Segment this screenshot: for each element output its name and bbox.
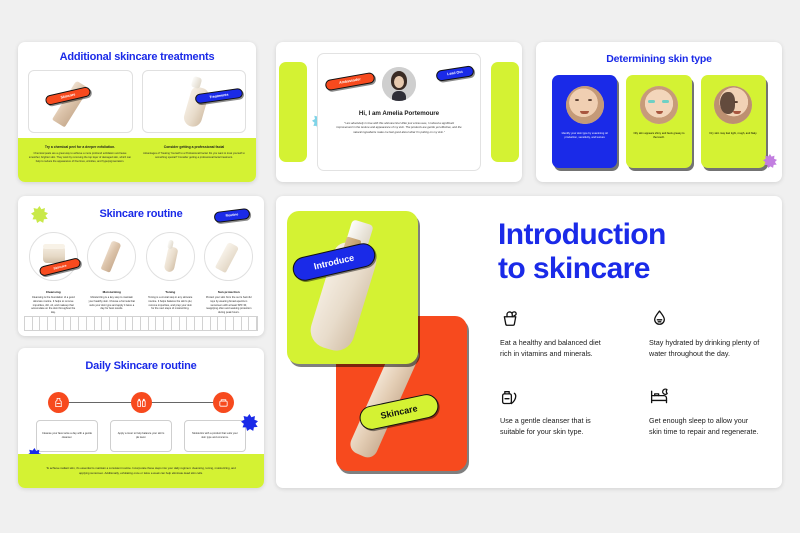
treatment-body: Chemical peels are a great way to achiev…: [28, 152, 132, 163]
intro-tips-grid: Eat a healthy and balanced diet rich in …: [500, 308, 762, 438]
slide-skincare-routine[interactable]: Skincare routine Routine Skincare Cleans…: [18, 196, 264, 336]
skin-type-card[interactable]: Identify your skin type by examining oil…: [552, 75, 617, 168]
step-label: Cleansing: [27, 290, 80, 294]
step-label: Sun protection: [203, 290, 256, 294]
title-line-1: Introduction: [498, 218, 666, 252]
treatment-text-band: Try a chemical peel for a deeper exfolia…: [18, 138, 256, 182]
daily-step-text: Cleanse your face twice a day with a gen…: [42, 432, 92, 440]
moisturizer-jar-icon: [213, 392, 234, 413]
badge-lead-out[interactable]: Lead Out: [435, 65, 474, 82]
treatment-image-right: Treatments: [142, 70, 247, 133]
ambassador-card: Ambassador Lead Out Hi, I am Amelia Port…: [317, 53, 481, 171]
step-label: Moisturizing: [86, 290, 139, 294]
skin-type-card[interactable]: Oily skin appears shiny and feels greasy…: [626, 75, 691, 168]
routine-step: Moisturizing Moisturizing is a key step …: [86, 232, 139, 315]
step-body: Toning is a crucial step in any skincare…: [144, 296, 197, 311]
daily-step-card: Cleanse your face twice a day with a gen…: [36, 420, 98, 452]
treatment-heading: Try a chemical peel for a deeper exfolia…: [28, 145, 132, 149]
step-image: [87, 232, 136, 281]
intro-tip-text: Eat a healthy and balanced diet rich in …: [500, 337, 613, 359]
daily-step-cards: Cleanse your face twice a day with a gen…: [36, 420, 246, 452]
face-photo: [566, 86, 604, 124]
title-line-2: to skincare: [498, 252, 666, 286]
ambassador-name: Hi, I am Amelia Portemoure: [318, 110, 480, 117]
intro-tip: Get enough sleep to allow your skin time…: [649, 386, 762, 437]
slide-title: Determining skin type: [536, 42, 782, 65]
treatment-image-left: Skincare: [28, 70, 133, 133]
slide-deck-canvas: Additional skincare treatments Skincare …: [0, 0, 800, 533]
cleanser-icon: [500, 386, 613, 408]
sleep-bed-moon-icon: [649, 386, 762, 408]
intro-tip: Use a gentle cleanser that is suitable f…: [500, 386, 613, 437]
routine-step: Toning Toning is a crucial step in any s…: [144, 232, 197, 315]
ruler-decoration: [24, 316, 258, 331]
intro-tip: Eat a healthy and balanced diet rich in …: [500, 308, 613, 359]
slide-skin-type[interactable]: Determining skin type Identify your skin…: [536, 42, 782, 182]
routine-step: Skincare Cleansing Cleansing is the foun…: [27, 232, 80, 315]
step-label: Toning: [144, 290, 197, 294]
green-accent-right: [491, 62, 519, 162]
slide-introduction-to-skincare[interactable]: Skincare Introduce Introduction to skinc…: [276, 196, 782, 488]
green-accent-left: [279, 62, 307, 162]
treatment-heading: Consider getting a professional facial: [142, 145, 246, 149]
footer-text: To achieve radiant skin, it's essential …: [41, 466, 241, 475]
daily-step-card: Apply a toner to help balance your skin'…: [110, 420, 172, 452]
daily-routine-footer: To achieve radiant skin, it's essential …: [18, 454, 264, 488]
toner-bottles-icon: [131, 392, 152, 413]
step-image: [204, 232, 253, 281]
timeline-nodes: [48, 392, 234, 413]
intro-tip-text: Use a gentle cleanser that is suitable f…: [500, 415, 613, 437]
treatment-body: Advantages of Treating Yourself to a Pro…: [142, 152, 246, 160]
intro-tip-text: Get enough sleep to allow your skin time…: [649, 415, 762, 437]
step-body: Moisturizing is a key step to maintain y…: [86, 296, 139, 311]
ambassador-quote: "I am absolutely in love with this skinc…: [336, 121, 462, 134]
healthy-food-icon: [500, 308, 613, 330]
badge-ambassador[interactable]: Ambassador: [324, 72, 375, 91]
skin-type-text: Oily skin appears shiny and feels greasy…: [633, 132, 684, 140]
slide-daily-routine[interactable]: Daily Skincare routine Cl: [18, 348, 264, 488]
skin-type-card[interactable]: Dry skin may feel tight, rough, and flak…: [701, 75, 766, 168]
routine-step-row: Skincare Cleansing Cleansing is the foun…: [27, 232, 255, 315]
slide-ambassador[interactable]: Ambassador Lead Out Hi, I am Amelia Port…: [276, 42, 522, 182]
routine-step: Sun protection Protect your skin from th…: [203, 232, 256, 315]
slide-additional-treatments[interactable]: Additional skincare treatments Skincare …: [18, 42, 256, 182]
face-photo: [714, 86, 752, 124]
cleanser-bottle-icon: [48, 392, 69, 413]
intro-tip-text: Stay hydrated by drinking plenty of wate…: [649, 337, 762, 359]
slide-title: Daily Skincare routine: [18, 348, 264, 372]
face-photo: [640, 86, 678, 124]
water-drop-icon: [649, 308, 762, 330]
treatment-image-row: Skincare Treatments: [28, 70, 246, 133]
daily-step-text: Moisturize with a product that suits you…: [190, 432, 240, 440]
slide-title: Additional skincare treatments: [18, 42, 256, 63]
page-title: Introduction to skincare: [498, 218, 666, 285]
daily-step-text: Apply a toner to help balance your skin'…: [116, 432, 166, 440]
skin-type-card-row: Identify your skin type by examining oil…: [552, 75, 766, 168]
step-body: Cleansing is the foundation of a good sk…: [27, 296, 80, 315]
intro-tip: Stay hydrated by drinking plenty of wate…: [649, 308, 762, 359]
daily-step-card: Moisturize with a product that suits you…: [184, 420, 246, 452]
skin-type-text: Dry skin may feel tight, rough, and flak…: [708, 132, 759, 136]
skin-type-text: Identify your skin type by examining oil…: [559, 132, 610, 140]
green-image-card: Introduce: [287, 211, 418, 364]
avatar: [382, 67, 416, 101]
step-image: [146, 232, 195, 281]
step-body: Protect your skin from the sun's harmful…: [203, 296, 256, 315]
